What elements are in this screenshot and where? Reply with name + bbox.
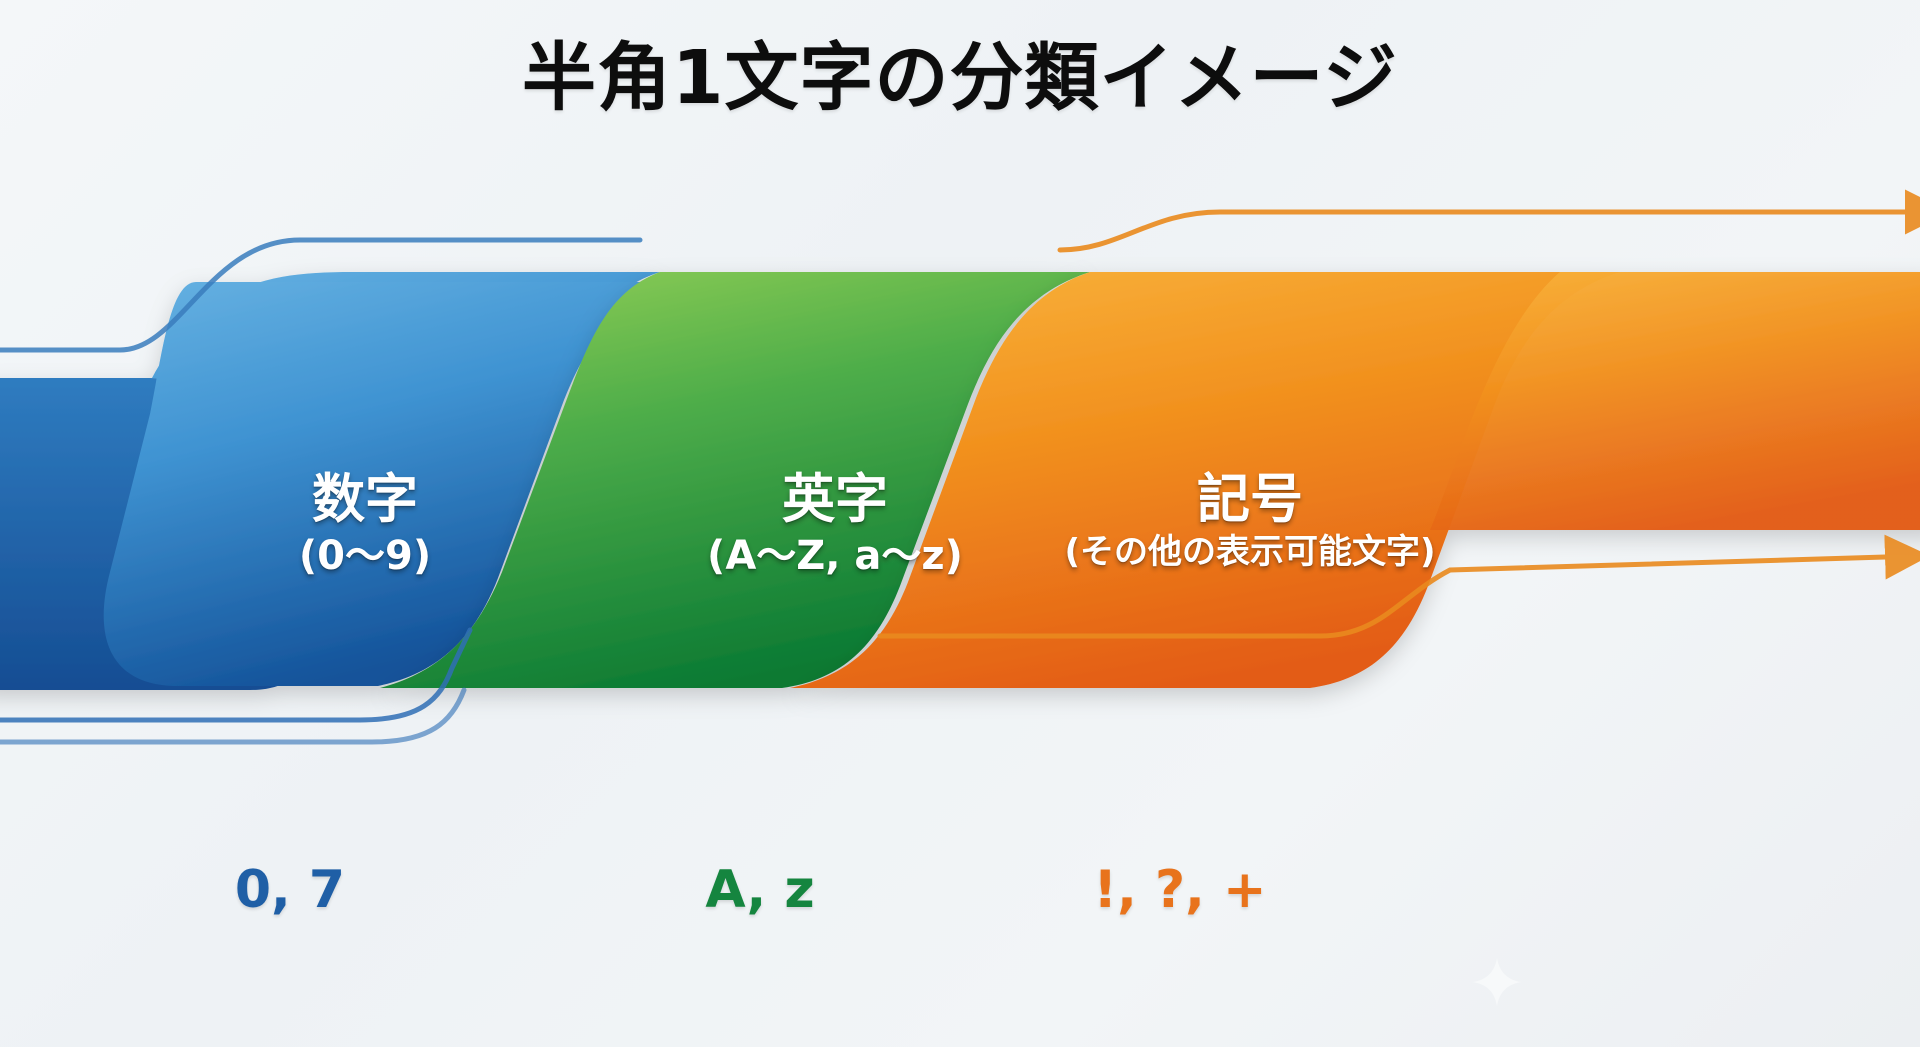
example-alphabet: A, z [610,860,910,920]
infographic-canvas: 半角1文字の分類イメージ [0,0,1920,1047]
example-numbers: 0, 7 [140,860,440,920]
sparkle-icon [1470,955,1524,1009]
example-symbols: !, ?, + [1030,860,1330,920]
